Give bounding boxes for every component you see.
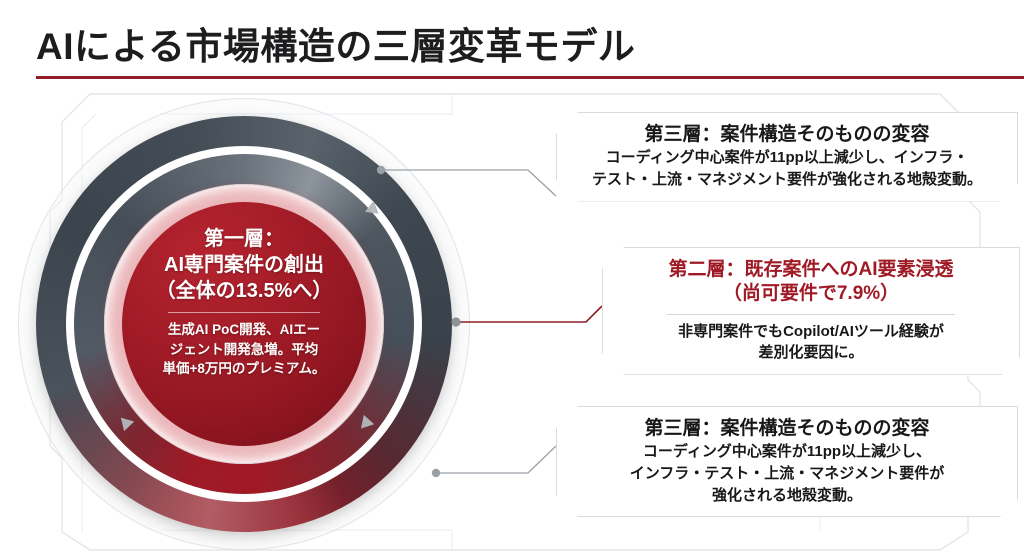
concentric-ring-diagram: 第一層： AI専門案件の創出 （全体の13.5%へ） 生成AI PoC開発、AI… <box>18 98 470 550</box>
connector-middle <box>456 306 602 322</box>
core-body-line-1: 生成AI PoC開発、AIエー <box>130 320 358 340</box>
callout-layer-three-top[interactable]: 第三層：案件構造そのものの変容 コーディング中心案件が11pp以上減少し、インフ… <box>556 112 1018 202</box>
core-divider <box>168 312 320 313</box>
callout-bottom-body-line-1: コーディング中心案件が11pp以上減少し、 <box>571 441 1003 463</box>
callout-middle-title-line-2: （尚可要件で7.9%） <box>617 282 1005 306</box>
callout-layer-three-bottom[interactable]: 第三層：案件構造そのものの変容 コーディング中心案件が11pp以上減少し、 イン… <box>556 406 1018 517</box>
callout-middle-body-line-1: 非専門案件でもCopilot/AIツール経験が <box>617 321 1005 343</box>
callout-bottom-body-line-3: 強化される地殻変動。 <box>571 485 1003 507</box>
callout-middle-body-line-2: 差別化要因に。 <box>617 342 1005 364</box>
callout-top-title: 第三層：案件構造そのものの変容 <box>571 123 1003 147</box>
callout-middle-divider <box>667 314 954 315</box>
page-title: AIによる市場構造の三層変革モデル <box>36 16 635 70</box>
core-heading-line-3: （全体の13.5%へ） <box>130 278 358 304</box>
core-text-group: 第一層： AI専門案件の創出 （全体の13.5%へ） 生成AI PoC開発、AI… <box>130 226 358 379</box>
infographic-canvas: AIによる市場構造の三層変革モデル 第一層： AI <box>0 0 1024 554</box>
callout-bottom-title: 第三層：案件構造そのものの変容 <box>571 417 1003 441</box>
callout-top-body-line-1: コーディング中心案件が11pp以上減少し、インフラ・ <box>571 147 1003 169</box>
callout-top-body-line-2: テスト・上流・マネジメント要件が強化される地殻変動。 <box>571 169 1003 191</box>
callout-bottom-body-line-2: インフラ・テスト・上流・マネジメント要件が <box>571 463 1003 485</box>
core-heading-line-1: 第一層： <box>130 226 358 252</box>
callout-layer-two-middle[interactable]: 第二層：既存案件へのAI要素浸透 （尚可要件で7.9%） 非専門案件でもCopi… <box>602 247 1020 375</box>
core-body-line-3: 単価+8万円のプレミアム。 <box>130 359 358 379</box>
core-heading-line-2: AI専門案件の創出 <box>130 252 358 278</box>
core-body-line-2: ジェント開発急増。平均 <box>130 340 358 360</box>
title-block: AIによる市場構造の三層変革モデル <box>0 0 1024 86</box>
callout-middle-title-line-1: 第二層：既存案件へのAI要素浸透 <box>617 258 1005 282</box>
title-underline-rule <box>36 76 1024 79</box>
